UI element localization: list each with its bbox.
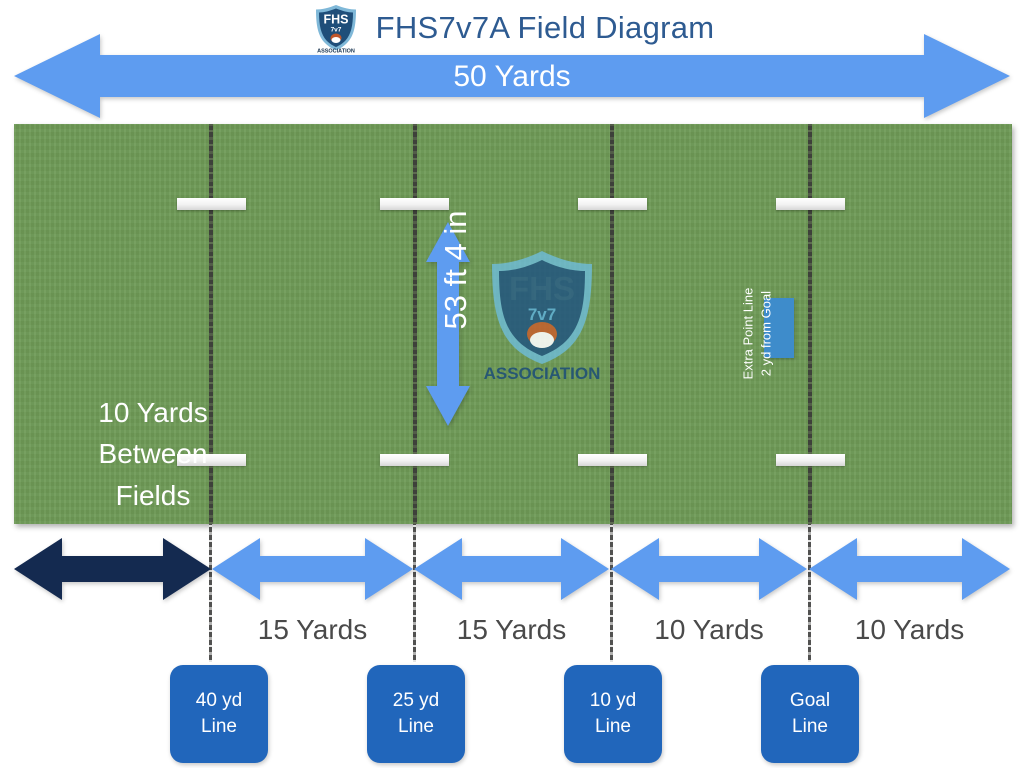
line-chip-goal-line-1: Goal	[790, 688, 830, 714]
segment-arrow-between-fields	[14, 536, 211, 602]
double-headed-arrow-horizontal-icon	[611, 536, 807, 602]
extra-point-label: Extra Point Line 2 yd from Goal	[739, 245, 774, 423]
svg-text:FHS: FHS	[323, 13, 348, 27]
segment-arrow-goal-to-endzone	[809, 536, 1010, 602]
page-title: FHS7v7A Field Diagram	[376, 10, 715, 46]
segment-caption-25-to-10: 15 Yards	[414, 614, 609, 646]
line-chip-10-yd-line-1: 10 yd	[590, 688, 636, 714]
extra-point-label-line-1: Extra Point Line	[739, 245, 757, 423]
between-fields-line-1: 10 Yards	[44, 392, 262, 433]
between-fields-line-2: Between	[44, 433, 262, 474]
line-chip-40-yd-line-1: 40 yd	[196, 688, 242, 714]
segment-arrow-25-to-10	[414, 536, 609, 602]
fhs-7v7-association-shield-logo: FHS 7v7 ASSOCIATION	[310, 3, 362, 53]
segment-caption-10-to-goal: 10 Yards	[611, 614, 807, 646]
hash-mark-bottom-goal	[776, 454, 845, 466]
segment-arrow-10-to-goal	[611, 536, 807, 602]
line-chip-25-yd[interactable]: 25 yd Line	[367, 665, 465, 763]
hash-mark-top-40	[177, 198, 246, 210]
watermark-7v7-text: 7v7	[528, 305, 556, 324]
field-diagram-canvas: FHS 7v7 ASSOCIATION FHS7v7A Field Diagra…	[0, 0, 1024, 768]
watermark-association-text: ASSOCIATION	[484, 364, 601, 382]
between-fields-note: 10 Yards Between Fields	[44, 392, 262, 516]
line-chip-goal-line-2: Line	[792, 714, 828, 740]
line-chip-25-yd-line-1: 25 yd	[393, 688, 439, 714]
segment-caption-goal-to-endzone: 10 Yards	[809, 614, 1010, 646]
segment-caption-40-to-25: 15 Yards	[212, 614, 413, 646]
line-chip-40-yd-line-2: Line	[201, 714, 237, 740]
hash-mark-top-10	[578, 198, 647, 210]
between-fields-line-3: Fields	[44, 475, 262, 516]
hash-mark-top-goal	[776, 198, 845, 210]
line-chip-40-yd[interactable]: 40 yd Line	[170, 665, 268, 763]
line-chip-10-yd[interactable]: 10 yd Line	[564, 665, 662, 763]
svg-text:7v7: 7v7	[330, 27, 341, 34]
line-chip-10-yd-line-2: Line	[595, 714, 631, 740]
hash-mark-bottom-10	[578, 454, 647, 466]
segment-arrow-40-to-25	[212, 536, 413, 602]
double-headed-arrow-horizontal-icon	[14, 536, 211, 602]
watermark-fhs-text: FHS	[509, 270, 575, 307]
line-chip-25-yd-line-2: Line	[398, 714, 434, 740]
fhs-7v7-association-shield-logo-watermark: FHS 7v7 ASSOCIATION	[476, 246, 608, 382]
double-headed-arrow-horizontal-icon	[212, 536, 413, 602]
page-header: FHS 7v7 ASSOCIATION FHS7v7A Field Diagra…	[0, 2, 1024, 54]
line-chip-goal[interactable]: Goal Line	[761, 665, 859, 763]
double-headed-arrow-horizontal-icon	[809, 536, 1010, 602]
double-headed-arrow-horizontal-icon	[414, 536, 609, 602]
svg-text:ASSOCIATION: ASSOCIATION	[317, 49, 355, 54]
hash-mark-bottom-25	[380, 454, 449, 466]
field-height-label: 53 ft 4 in	[438, 180, 474, 360]
extra-point-label-line-2: 2 yd from Goal	[757, 245, 775, 423]
